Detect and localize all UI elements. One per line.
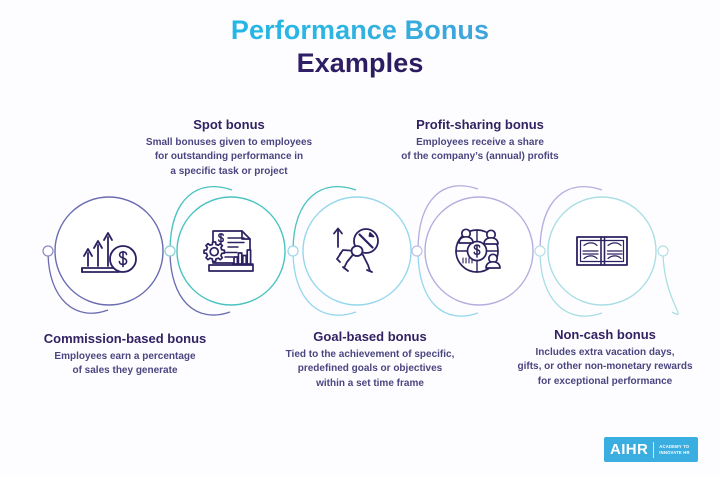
arc-noncash-to-end — [663, 251, 678, 314]
caption-line: predefined goals or objectives — [298, 363, 442, 374]
team-dollar-network-icon — [456, 229, 500, 272]
caption-profit-sharing: Profit-sharing bonus Employees receive a… — [372, 117, 588, 165]
node-ring-commission[interactable] — [55, 197, 163, 305]
logo-divider — [653, 442, 654, 458]
caption-line: Employees receive a share — [416, 137, 544, 148]
caption-line: of the company’s (annual) profits — [401, 151, 558, 162]
infographic-canvas: Performance Bonus Examples — [0, 0, 720, 477]
logo-tagline-line-2: INNOVATE HR — [659, 450, 689, 455]
logo-wordmark: AIHR — [610, 442, 648, 457]
caption-line: Employees earn a percentage — [54, 351, 195, 362]
logo-tagline-line-1: ACADEMY TO — [659, 444, 689, 449]
connector-dot-4 — [535, 246, 545, 256]
caption-line: Tied to the achievement of specific, — [286, 349, 455, 360]
caption-spot: Spot bonus Small bonuses given to employ… — [104, 117, 354, 179]
connector-dot-start — [43, 246, 53, 256]
caption-goal: Goal-based bonus Tied to the achievement… — [248, 329, 492, 391]
caption-line: of sales they generate — [72, 365, 177, 376]
caption-body-non-cash: Includes extra vacation days, gifts, or … — [487, 346, 720, 389]
connector-dot-2 — [288, 246, 298, 256]
caption-line: Includes extra vacation days, — [536, 347, 675, 358]
caption-body-profit-sharing: Employees receive a share of the company… — [372, 136, 588, 164]
caption-heading-profit-sharing: Profit-sharing bonus — [372, 117, 588, 133]
caption-heading-non-cash: Non-cash bonus — [487, 327, 720, 343]
gift-voucher-icon — [577, 237, 627, 265]
caption-non-cash: Non-cash bonus Includes extra vacation d… — [487, 327, 720, 389]
caption-line: for outstanding performance in — [155, 151, 303, 162]
caption-heading-goal: Goal-based bonus — [248, 329, 492, 345]
caption-body-commission: Employees earn a percentage of sales the… — [2, 350, 248, 378]
caption-line: for exceptional performance — [538, 376, 672, 387]
caption-body-goal: Tied to the achievement of specific, pre… — [248, 348, 492, 391]
connector-dot-end — [658, 246, 668, 256]
connector-dot-1 — [165, 246, 175, 256]
caption-commission: Commission-based bonus Employees earn a … — [2, 331, 248, 379]
aihr-logo[interactable]: AIHR ACADEMY TO INNOVATE HR — [604, 437, 698, 462]
caption-line: gifts, or other non-monetary rewards — [517, 361, 692, 372]
caption-heading-commission: Commission-based bonus — [2, 331, 248, 347]
caption-body-spot: Small bonuses given to employees for out… — [104, 136, 354, 179]
caption-line: Small bonuses given to employees — [146, 137, 312, 148]
caption-line: within a set time frame — [316, 378, 424, 389]
caption-line: a specific task or project — [170, 166, 287, 177]
process-flow-diagram — [0, 0, 720, 477]
caption-heading-spot: Spot bonus — [104, 117, 354, 133]
connector-dot-3 — [412, 246, 422, 256]
logo-tagline: ACADEMY TO INNOVATE HR — [659, 444, 689, 455]
